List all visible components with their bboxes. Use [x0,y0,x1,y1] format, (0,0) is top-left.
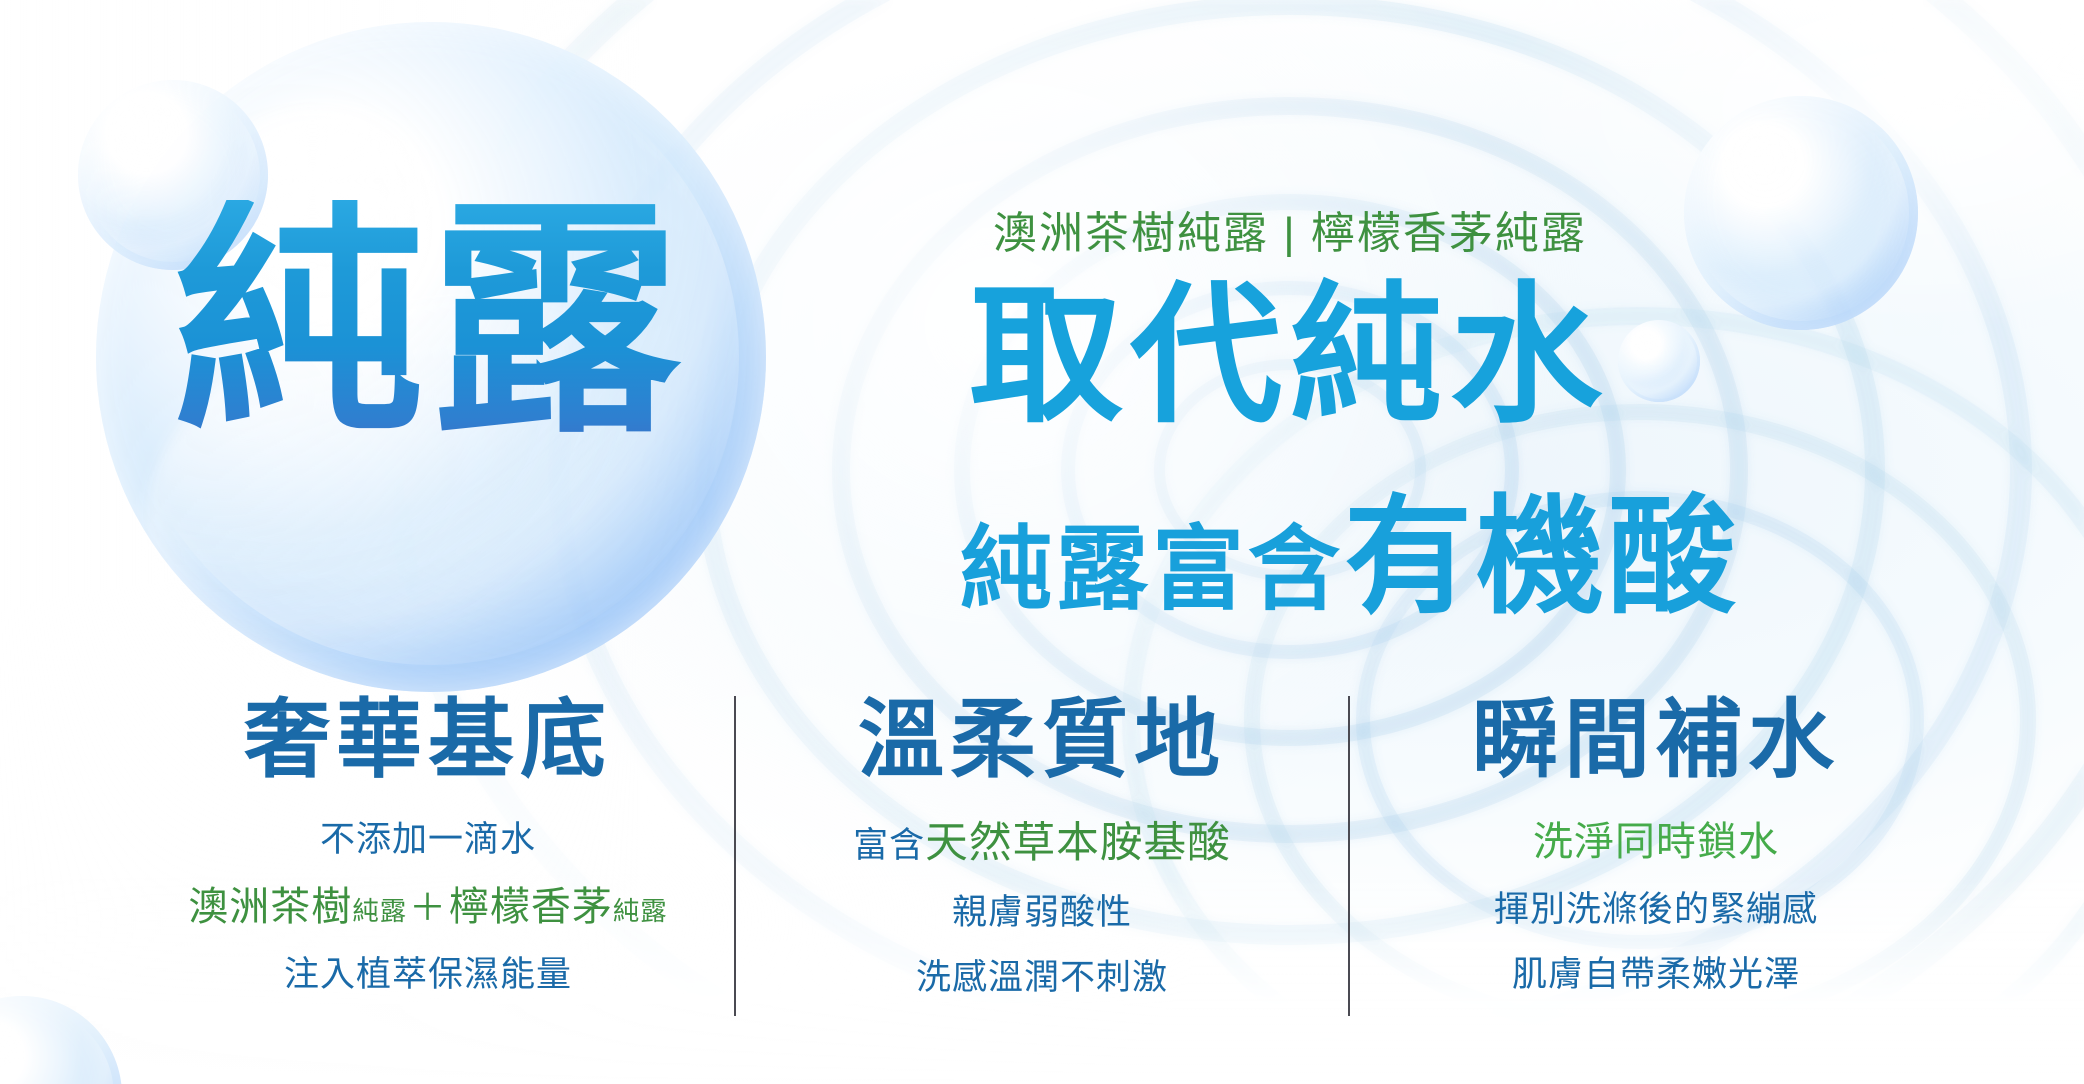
feature-column-lines: 不添加一滴水澳洲茶樹純露＋檸檬香茅純露注入植萃保濕能量 [134,822,722,992]
feature-line: 不添加一滴水 [134,822,722,857]
product-eyebrow-text: 澳洲茶樹純露 | 檸檬香茅純露 [760,210,1820,258]
headline-block: 澳洲茶樹純露 | 檸檬香茅純露 取代純水 純露富含有機酸 [760,210,1820,638]
feature-column-lines: 洗淨同時鎖水揮別洗滌後的緊繃感肌膚自帶柔嫩光澤 [1362,822,1950,992]
hero-wordmark: 純露 [150,200,710,450]
feature-line: 富含天然草本胺基酸 [748,822,1336,865]
headline-secondary-lead: 純露富含 [960,519,1344,621]
feature-line-fragment: 富含 [853,826,925,865]
feature-columns: 奢華基底不添加一滴水澳洲茶樹純露＋檸檬香茅純露注入植萃保濕能量溫柔質地富含天然草… [0,692,2084,1016]
promo-banner: 純露 澳洲茶樹純露 | 檸檬香茅純露 取代純水 純露富含有機酸 奢華基底不添加一… [0,0,2084,1084]
feature-line-fragment: 純露 [352,896,407,926]
feature-line-fragment: 檸檬香茅 [449,885,613,929]
feature-column: 奢華基底不添加一滴水澳洲茶樹純露＋檸檬香茅純露注入植萃保濕能量 [122,692,734,992]
feature-line: 肌膚自帶柔嫩光澤 [1362,957,1950,992]
feature-column-title: 溫柔質地 [748,692,1336,788]
feature-line-fragment: 澳洲茶樹 [188,885,352,929]
feature-column-title: 瞬間補水 [1362,692,1950,788]
feature-column-lines: 富含天然草本胺基酸親膚弱酸性洗感溫潤不刺激 [748,822,1336,995]
feature-line: 洗感溫潤不刺激 [748,960,1336,995]
feature-line-fragment: 純露 [613,896,668,926]
feature-column-title: 奢華基底 [134,692,722,788]
headline-primary: 取代純水 [760,280,1820,435]
feature-line: 親膚弱酸性 [748,895,1336,930]
feature-line: 澳洲茶樹純露＋檸檬香茅純露 [134,887,722,927]
feature-line: 揮別洗滌後的緊繃感 [1362,892,1950,927]
feature-line-fragment: 天然草本胺基酸 [925,819,1231,867]
feature-column: 溫柔質地富含天然草本胺基酸親膚弱酸性洗感溫潤不刺激 [736,692,1348,995]
headline-secondary-emphasis: 有機酸 [1344,487,1740,629]
feature-line-fragment: ＋ [407,887,449,928]
feature-column: 瞬間補水洗淨同時鎖水揮別洗滌後的緊繃感肌膚自帶柔嫩光澤 [1350,692,1962,992]
feature-line: 洗淨同時鎖水 [1362,822,1950,862]
feature-line: 注入植萃保濕能量 [134,957,722,992]
headline-secondary: 純露富含有機酸 [760,453,1820,638]
